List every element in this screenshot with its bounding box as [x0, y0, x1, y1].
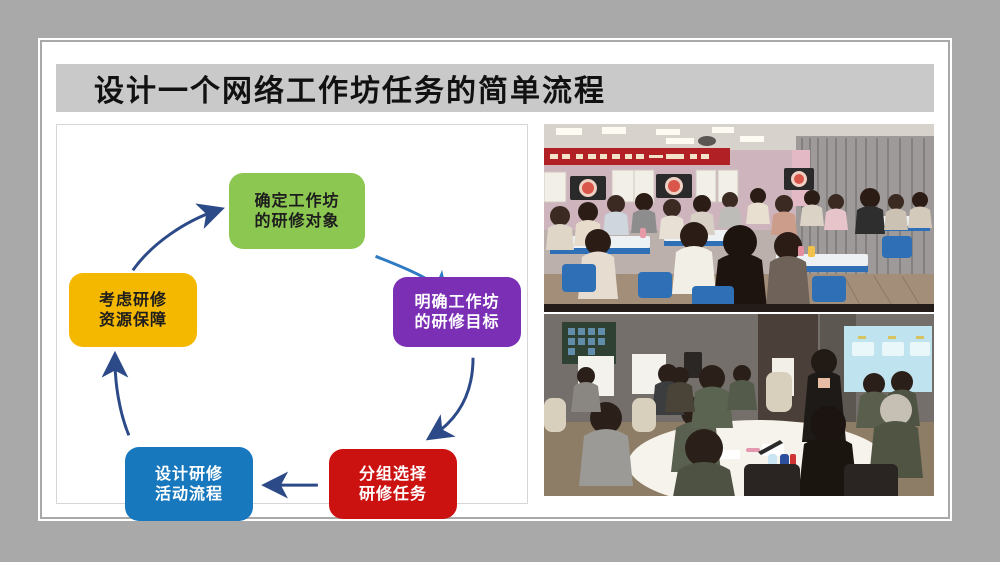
slide-stage: 设计一个网络工作坊任务的简单流程 [0, 0, 1000, 562]
node-resource-line1: 考虑研修 [99, 290, 167, 310]
node-activity-line2: 活动流程 [155, 484, 223, 504]
node-activity[interactable]: 设计研修 活动流程 [125, 447, 253, 521]
photo-bottom-description: 圆桌分组研讨，主持人站立引导 [544, 314, 558, 315]
page-title: 设计一个网络工作坊任务的简单流程 [94, 66, 606, 110]
arrow-activity-to-resource [115, 360, 129, 436]
slide-title-bar: 设计一个网络工作坊任务的简单流程 [56, 64, 934, 112]
slide-body: 设计一个网络工作坊任务的简单流程 [42, 42, 948, 517]
photo-top-description: 阶梯教室里参加工作坊的教师们 [544, 124, 558, 125]
node-audience-line2: 的研修对象 [254, 211, 339, 231]
node-goal-line2: 的研修目标 [414, 312, 499, 332]
photo-workshop-lecture-room: 教师“微格教学设计与演练——BTC”工作坊 阶梯教室里参加工作坊的教师们 [544, 124, 934, 312]
node-resource[interactable]: 考虑研修 资源保障 [69, 273, 197, 347]
node-activity-line1: 设计研修 [155, 464, 223, 484]
node-audience-line1: 确定工作坊 [254, 191, 339, 211]
photo-panel: 教师“微格教学设计与演练——BTC”工作坊 阶梯教室里参加工作坊的教师们 [544, 124, 934, 504]
node-audience[interactable]: 确定工作坊 的研修对象 [229, 173, 365, 249]
photo-group-discussion: 圆桌分组研讨，主持人站立引导 [544, 314, 934, 502]
node-goal-line1: 明确工作坊 [414, 292, 499, 312]
arrow-goal-to-task [433, 358, 473, 436]
node-resource-line2: 资源保障 [99, 310, 167, 330]
node-task-line2: 研修任务 [359, 484, 427, 504]
node-task-line1: 分组选择 [359, 464, 427, 484]
diagram-panel: 确定工作坊 的研修对象 明确工作坊 的研修目标 分组选择 研修任务 设计研修 活… [56, 124, 528, 504]
node-task[interactable]: 分组选择 研修任务 [329, 449, 457, 519]
node-goal[interactable]: 明确工作坊 的研修目标 [393, 277, 521, 347]
arrow-resource-to-audience [133, 211, 217, 271]
